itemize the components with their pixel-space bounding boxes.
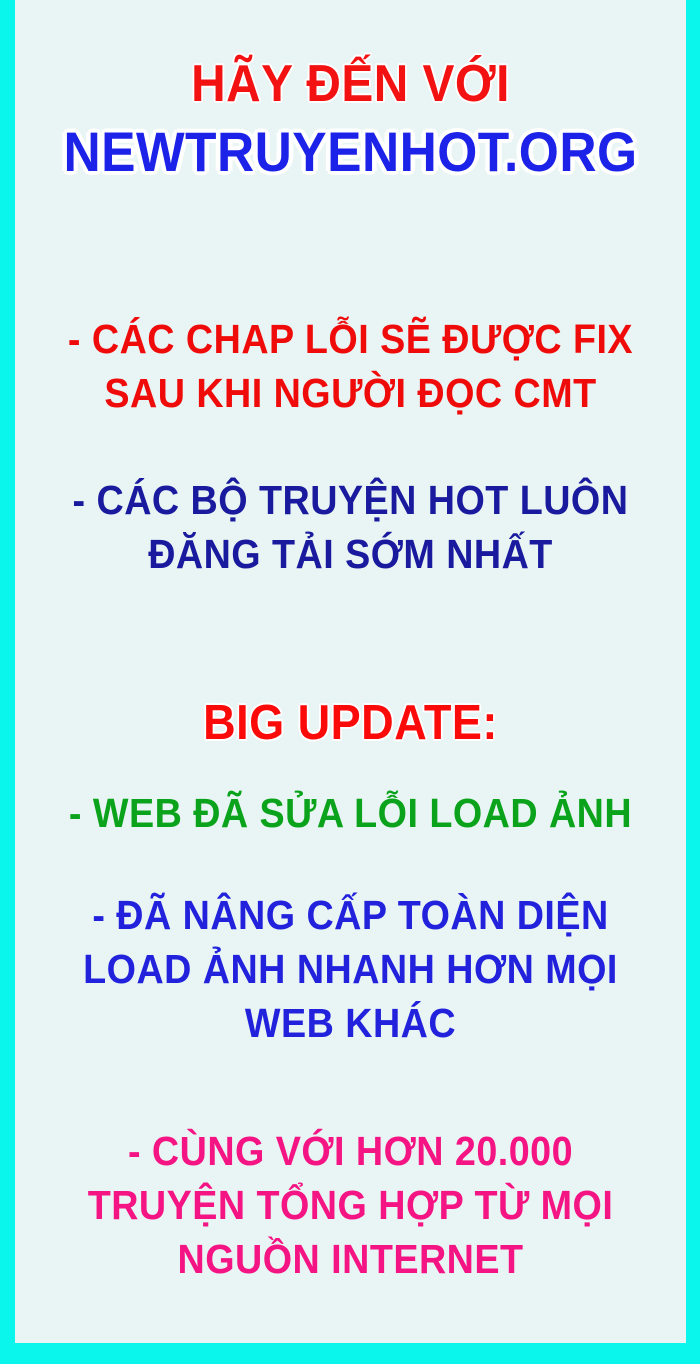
update-story-count-line-2: TRUYỆN TỔNG HỢP TỪ MỌI bbox=[42, 1178, 659, 1232]
note-fix-chapters-line-2: SAU KHI NGƯỜI ĐỌC CMT bbox=[42, 366, 659, 420]
update-full-upgrade: - ĐÃ NÂNG CẤP TOÀN DIỆN LOAD ẢNH NHANH H… bbox=[15, 888, 686, 1050]
update-full-upgrade-line-1: - ĐÃ NÂNG CẤP TOÀN DIỆN bbox=[42, 888, 659, 942]
frame-band-right bbox=[686, 0, 700, 1364]
big-update-heading: BIG UPDATE: bbox=[42, 695, 659, 751]
update-story-count-line-3: NGUỒN INTERNET bbox=[42, 1232, 659, 1286]
note-hot-series-line-2: ĐĂNG TẢI SỚM NHẤT bbox=[42, 527, 659, 581]
update-story-count-line-1: - CÙNG VỚI HƠN 20.000 bbox=[42, 1124, 659, 1178]
update-full-upgrade-line-3: WEB KHÁC bbox=[42, 996, 659, 1050]
update-full-upgrade-line-2: LOAD ẢNH NHANH HƠN MỌI bbox=[42, 942, 659, 996]
frame-band-bottom bbox=[0, 1343, 700, 1364]
hero-headline: HÃY ĐẾN VỚI bbox=[42, 56, 659, 112]
frame-band-left bbox=[0, 0, 15, 1364]
update-image-load-fix-line-1: - WEB ĐÃ SỬA LỖI LOAD ẢNH bbox=[42, 786, 659, 840]
note-hot-series-line-1: - CÁC BỘ TRUYỆN HOT LUÔN bbox=[42, 473, 659, 527]
note-fix-chapters: - CÁC CHAP LỖI SẼ ĐƯỢC FIX SAU KHI NGƯỜI… bbox=[15, 312, 686, 420]
site-name-link[interactable]: NEWTRUYENHOT.ORG bbox=[42, 120, 659, 184]
update-story-count: - CÙNG VỚI HƠN 20.000 TRUYỆN TỔNG HỢP TỪ… bbox=[15, 1124, 686, 1286]
promo-poster: HÃY ĐẾN VỚI NEWTRUYENHOT.ORG - CÁC CHAP … bbox=[0, 0, 700, 1368]
update-image-load-fix: - WEB ĐÃ SỬA LỖI LOAD ẢNH bbox=[15, 786, 686, 840]
update-section-title: BIG UPDATE: bbox=[15, 695, 686, 751]
poster-canvas: HÃY ĐẾN VỚI NEWTRUYENHOT.ORG - CÁC CHAP … bbox=[15, 0, 686, 1343]
note-hot-series: - CÁC BỘ TRUYỆN HOT LUÔN ĐĂNG TẢI SỚM NH… bbox=[15, 473, 686, 581]
hero-block: HÃY ĐẾN VỚI NEWTRUYENHOT.ORG bbox=[15, 56, 686, 184]
note-fix-chapters-line-1: - CÁC CHAP LỖI SẼ ĐƯỢC FIX bbox=[42, 312, 659, 366]
